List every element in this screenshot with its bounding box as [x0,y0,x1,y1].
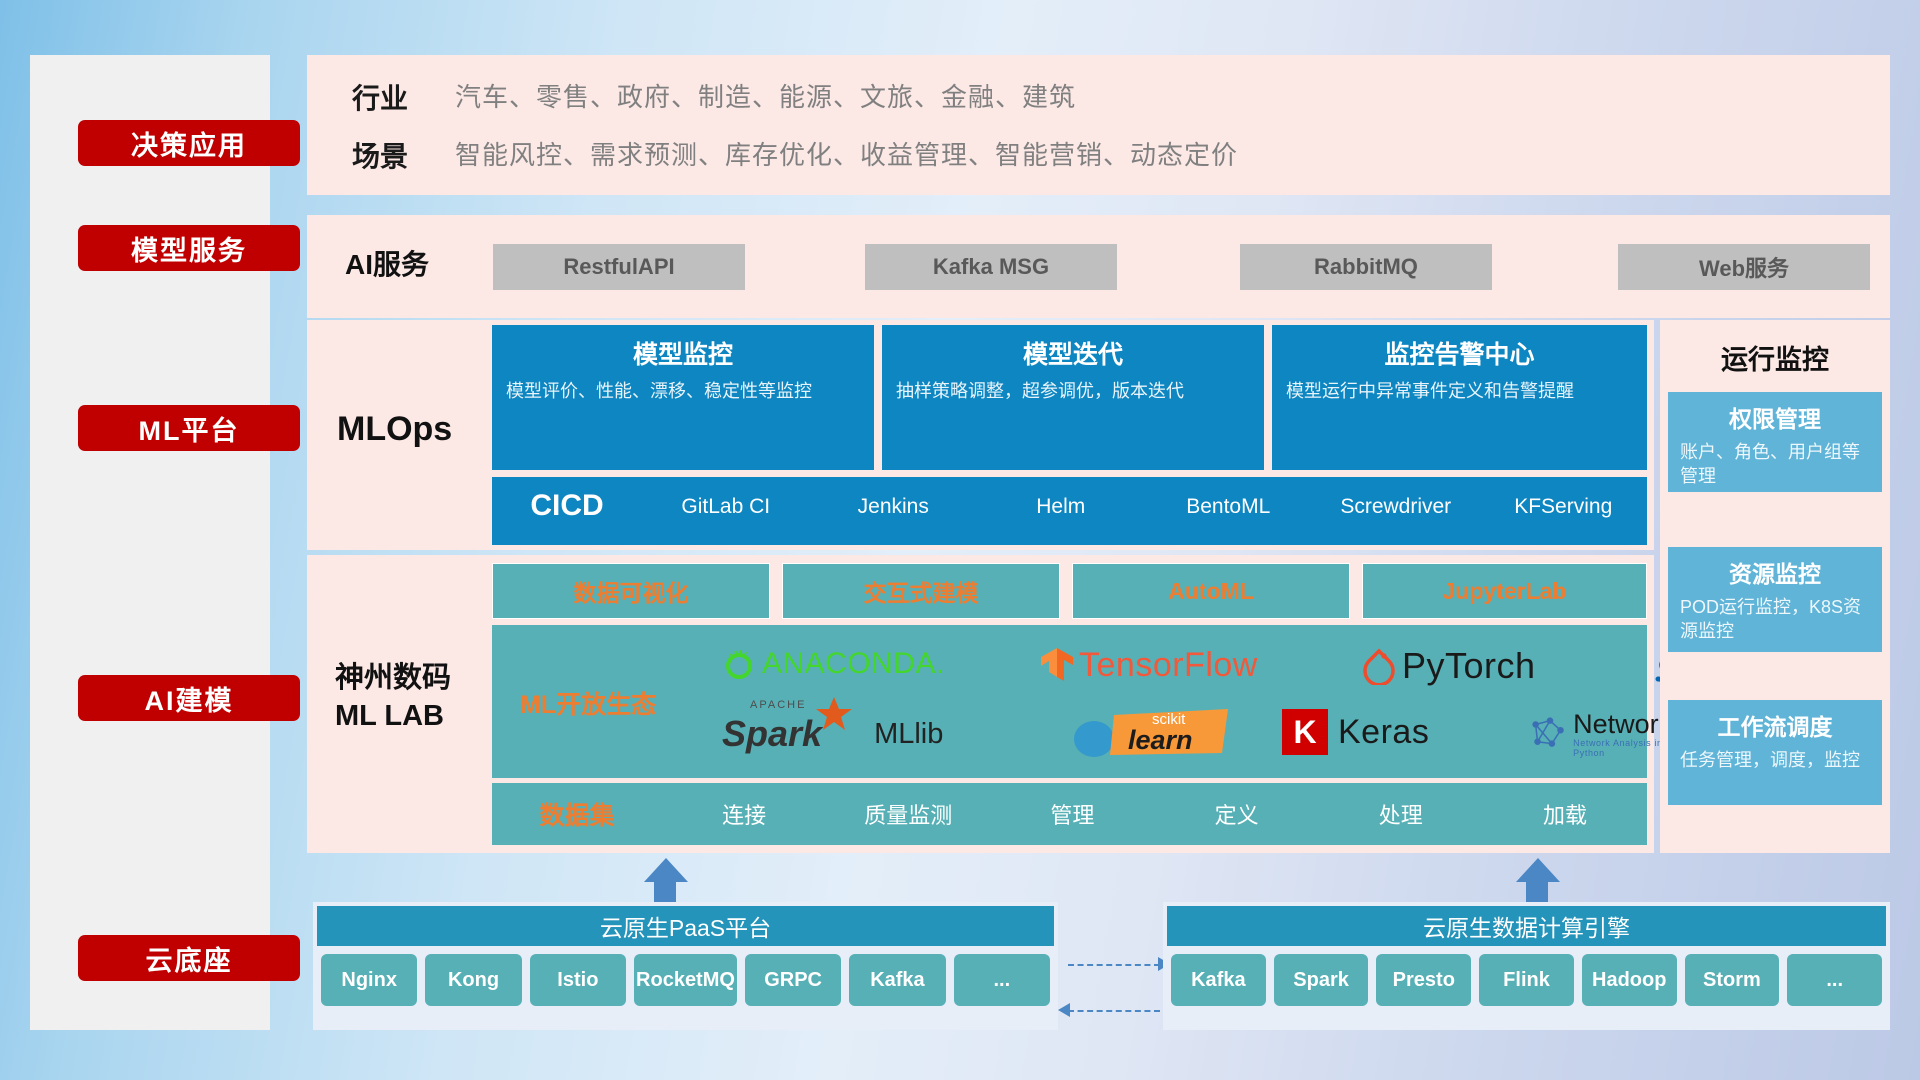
industry-value: 汽车、零售、政府、制造、能源、文旅、金融、建筑 [455,77,1076,114]
dataset-item-load[interactable]: 加载 [1483,798,1647,830]
pytorch-logo: PyTorch [1362,645,1536,687]
compute-platform: 云原生数据计算引擎 Kafka Spark Presto Flink Hadoo… [1163,902,1890,1030]
cicd-bar: CICD GitLab CI Jenkins Helm BentoML Scre… [492,477,1647,545]
keras-logo: K Keras [1282,709,1429,755]
rail-item-label: ML平台 [139,409,240,448]
compute-chip-more[interactable]: ... [1787,954,1882,1006]
ml-ecosystem-band: ML开放生态 ANACONDA. TensorFlow PyTorch [492,625,1647,778]
spark-wordmark: Spark [722,713,822,754]
cicd-item-screwdriver[interactable]: Screwdriver [1312,477,1480,521]
paas-up-arrow-head [644,858,688,882]
compute-chip-spark[interactable]: Spark [1274,954,1369,1006]
mllab-tab-jupyterlab[interactable]: JupyterLab [1362,563,1647,619]
card-desc: 模型评价、性能、漂移、稳定性等监控 [506,379,860,403]
link-arrow-left [1058,1003,1070,1017]
mlops-label: MLOps [337,410,452,449]
paas-chip-grpc[interactable]: GRPC [745,954,841,1006]
pytorch-wordmark: PyTorch [1402,645,1536,687]
cicd-item-gitlab-ci[interactable]: GitLab CI [642,477,810,521]
card-desc: 任务管理，调度，监控 [1680,748,1870,772]
paas-chip-kong[interactable]: Kong [425,954,521,1006]
ml-lab-label-cn: 神州数码 [335,660,451,698]
paas-title: 云原生PaaS平台 [317,906,1054,946]
compute-chip-hadoop[interactable]: Hadoop [1582,954,1677,1006]
link-dash-top [1068,964,1160,966]
mllab-tab-interactive-modeling[interactable]: 交互式建模 [782,563,1060,619]
paas-chip-nginx[interactable]: Nginx [321,954,417,1006]
monitoring-title: 运行监控 [1660,338,1890,377]
keras-wordmark: Keras [1338,713,1429,752]
ai-service-chip-rabbitmq[interactable]: RabbitMQ [1240,244,1492,290]
card-desc: 模型运行中异常事件定义和告警提醒 [1286,379,1633,403]
paas-chip-istio[interactable]: Istio [530,954,626,1006]
mllab-tab-automl[interactable]: AutoML [1072,563,1350,619]
card-title: 模型迭代 [896,335,1250,371]
dataset-label: 数据集 [492,796,662,832]
keras-mark: K [1293,714,1316,751]
rail-item-label: 模型服务 [131,229,247,268]
card-title: 资源监控 [1680,555,1870,589]
compute-chip-storm[interactable]: Storm [1685,954,1780,1006]
chip-label: RabbitMQ [1314,254,1418,280]
scenario-key: 场景 [352,135,408,175]
tensorflow-logo: TensorFlow [1037,645,1258,685]
anaconda-logo: ANACONDA. [722,647,945,681]
tab-label: 交互式建模 [864,574,979,608]
compute-title: 云原生数据计算引擎 [1167,906,1886,946]
link-dash-bottom [1068,1010,1160,1012]
card-desc: 账户、角色、用户组等管理 [1680,440,1870,489]
compute-chip-kafka[interactable]: Kafka [1171,954,1266,1006]
tab-label: AutoML [1168,578,1254,605]
ai-service-chip-restfulapi[interactable]: RestfulAPI [493,244,745,290]
card-desc: 抽样策略调整，超参调优，版本迭代 [896,379,1250,403]
dataset-item-define[interactable]: 定义 [1155,798,1319,830]
ai-service-chip-web-service[interactable]: Web服务 [1618,244,1870,290]
ml-lab-label-en: ML LAB [335,698,451,736]
cicd-item-helm[interactable]: Helm [977,477,1145,521]
monitor-card-resource[interactable]: 资源监控 POD运行监控，K8S资源监控 [1668,547,1882,652]
tab-label: 数据可视化 [574,574,689,608]
rail-item-model-service[interactable]: 模型服务 [78,225,300,271]
compute-up-arrow-body [1526,882,1548,902]
mllab-tab-data-visualization[interactable]: 数据可视化 [492,563,770,619]
compute-chip-presto[interactable]: Presto [1376,954,1471,1006]
mllib-wordmark: MLlib [874,718,943,751]
compute-chip-row: Kafka Spark Presto Flink Hadoop Storm ..… [1167,946,1886,1012]
card-title: 工作流调度 [1680,708,1870,742]
scenario-value: 智能风控、需求预测、库存优化、收益管理、智能营销、动态定价 [455,135,1238,172]
rail-item-label: 云底座 [146,939,233,978]
paas-chip-more[interactable]: ... [954,954,1050,1006]
paas-up-arrow-body [654,882,676,902]
architecture-diagram: 决策应用 模型服务 ML平台 AI建模 云底座 行业 汽车、零售、政府、制造、能… [0,0,1920,1080]
ai-service-label: AI服务 [345,243,429,283]
left-label-rail: 决策应用 模型服务 ML平台 AI建模 云底座 [30,55,270,1030]
cicd-item-jenkins[interactable]: Jenkins [810,477,978,521]
cicd-label: CICD [492,477,642,523]
paas-chip-row: Nginx Kong Istio RocketMQ GRPC Kafka ... [317,946,1054,1012]
paas-chip-kafka[interactable]: Kafka [849,954,945,1006]
rail-item-label: AI建模 [145,679,234,718]
card-title: 权限管理 [1680,400,1870,434]
cicd-item-kfserving[interactable]: KFServing [1480,477,1648,521]
ml-lab-label: 神州数码 ML LAB [335,660,451,735]
rail-item-decision-app[interactable]: 决策应用 [78,120,300,166]
dataset-item-quality[interactable]: 质量监测 [826,798,990,830]
monitor-card-workflow[interactable]: 工作流调度 任务管理，调度，监控 [1668,700,1882,805]
scikit-learn-logo: scikit learn [1072,709,1230,762]
rail-item-ml-platform[interactable]: ML平台 [78,405,300,451]
ai-service-chip-kafka-msg[interactable]: Kafka MSG [865,244,1117,290]
chip-label: Web服务 [1699,251,1789,283]
chip-label: Kafka MSG [933,254,1049,280]
spark-apache-text: APACHE [750,699,806,711]
mlops-card-model-iteration[interactable]: 模型迭代 抽样策略调整，超参调优，版本迭代 [882,325,1264,470]
dataset-band: 数据集 连接 质量监测 管理 定义 处理 加载 [492,783,1647,845]
dataset-item-connect[interactable]: 连接 [662,798,826,830]
paas-platform: 云原生PaaS平台 Nginx Kong Istio RocketMQ GRPC… [313,902,1058,1030]
rail-item-label: 决策应用 [131,124,247,163]
mlops-card-alert-center[interactable]: 监控告警中心 模型运行中异常事件定义和告警提醒 [1272,325,1647,470]
ml-ecosystem-label: ML开放生态 [520,685,656,721]
paas-chip-rocketmq[interactable]: RocketMQ [634,954,737,1006]
dataset-item-manage[interactable]: 管理 [990,798,1154,830]
mlops-card-model-monitoring[interactable]: 模型监控 模型评价、性能、漂移、稳定性等监控 [492,325,874,470]
anaconda-wordmark: ANACONDA. [762,647,945,681]
decision-app-panel: 行业 汽车、零售、政府、制造、能源、文旅、金融、建筑 场景 智能风控、需求预测、… [307,55,1890,195]
tensorflow-wordmark: TensorFlow [1079,646,1258,685]
spark-mllib-logo: APACHE Spark MLlib [722,713,943,755]
rail-item-cloud-base[interactable]: 云底座 [78,935,300,981]
industry-key: 行业 [352,77,408,117]
compute-up-arrow-head [1516,858,1560,882]
monitor-card-permission[interactable]: 权限管理 账户、角色、用户组等管理 [1668,392,1882,492]
learn-text: learn [1128,725,1193,756]
card-desc: POD运行监控，K8S资源监控 [1680,595,1870,644]
card-title: 模型监控 [506,335,860,371]
dataset-item-process[interactable]: 处理 [1319,798,1483,830]
cicd-item-bentoml[interactable]: BentoML [1145,477,1313,521]
rail-item-ai-modeling[interactable]: AI建模 [78,675,300,721]
card-title: 监控告警中心 [1286,335,1633,371]
tab-label: JupyterLab [1443,578,1567,605]
chip-label: RestfulAPI [563,254,674,280]
compute-chip-flink[interactable]: Flink [1479,954,1574,1006]
